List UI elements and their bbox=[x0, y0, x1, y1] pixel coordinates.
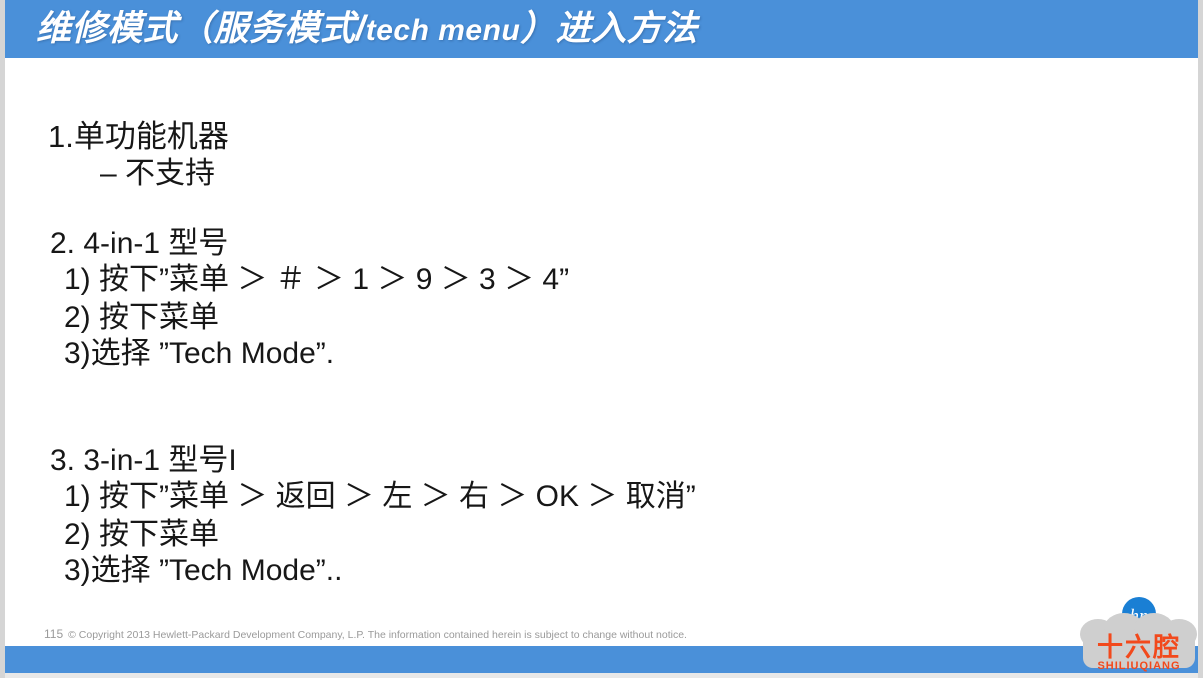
page-title: 维修模式（服务模式/tech menu）进入方法 bbox=[36, 5, 698, 55]
page-title-latin: tech menu bbox=[366, 14, 521, 47]
page-edge-right bbox=[1198, 0, 1203, 678]
watermark-logo: hp 十六腔 SHILIUQIANG bbox=[1078, 596, 1200, 676]
page-title-cn-prefix: 维修模式（服务模式/ bbox=[36, 9, 366, 48]
slide-body: 1.单功能机器 – 不支持 2. 4-in-1 型号 1) 按下”菜单 ＞ ＃ … bbox=[0, 58, 1203, 618]
logo-brand-cn: 十六腔 bbox=[1097, 633, 1181, 663]
section-1-item: – 不支持 bbox=[100, 148, 215, 192]
page-title-cn-suffix: ）进入方法 bbox=[520, 9, 698, 48]
section-3-item: 3)选择 ”Tech Mode”.. bbox=[64, 545, 342, 589]
slide-header-bar: 维修模式（服务模式/tech menu）进入方法 bbox=[0, 0, 1203, 58]
copyright-text: © Copyright 2013 Hewlett-Packard Develop… bbox=[68, 629, 687, 641]
slide-bottom-edge bbox=[0, 673, 1203, 678]
page-number: 115 bbox=[44, 627, 63, 641]
page-edge-left bbox=[0, 0, 5, 678]
slide-canvas: 维修模式（服务模式/tech menu）进入方法 1.单功能机器 – 不支持 2… bbox=[0, 0, 1203, 678]
footer-copyright-line: 115© Copyright 2013 Hewlett-Packard Deve… bbox=[44, 627, 687, 641]
slide-footer-bar bbox=[0, 646, 1203, 673]
logo-graphic: hp 十六腔 SHILIUQIANG bbox=[1078, 596, 1200, 676]
logo-brand-pinyin: SHILIUQIANG bbox=[1097, 660, 1180, 672]
section-2-item: 3)选择 ”Tech Mode”. bbox=[64, 328, 334, 372]
